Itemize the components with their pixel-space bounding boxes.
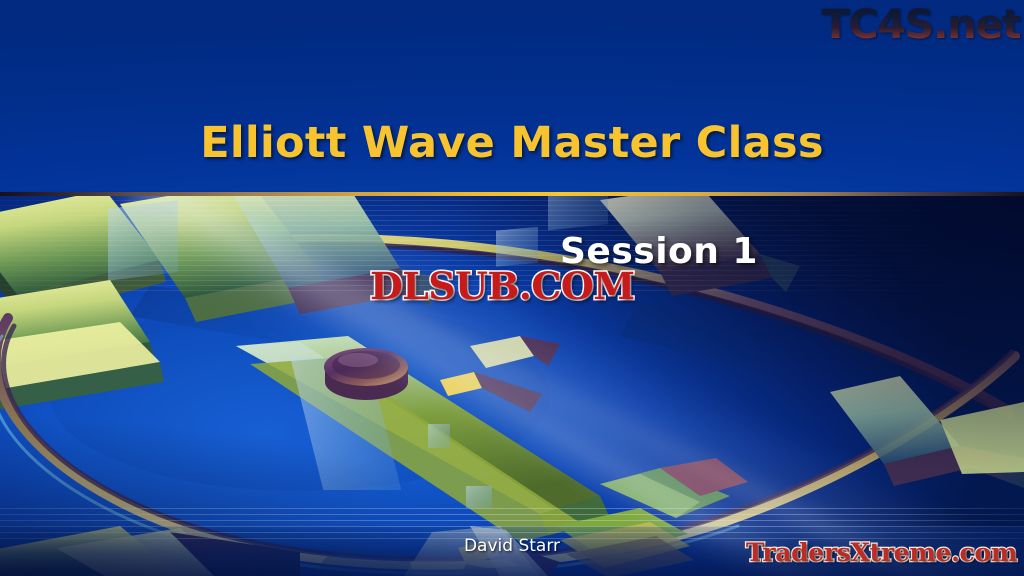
tc4s-logo-watermark: TC4S.net <box>821 2 1020 48</box>
slide-artwork-region <box>0 196 1024 576</box>
dlsub-watermark: DLSUB.COM <box>370 264 635 308</box>
page-title: Elliott Wave Master Class <box>0 118 1024 168</box>
presenter-name: David Starr <box>0 536 1024 556</box>
presentation-slide: Elliott Wave Master Class <box>0 0 1024 576</box>
